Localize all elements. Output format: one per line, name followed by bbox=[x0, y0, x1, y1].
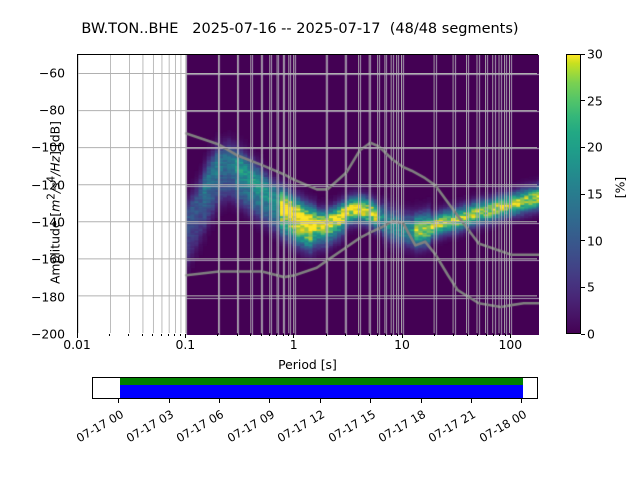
x-axis-tick-label: 10 bbox=[394, 337, 410, 352]
coverage-green-bar bbox=[120, 378, 523, 385]
time-axis-tick-label: 07-17 00 bbox=[70, 407, 125, 447]
colorbar-tick-label: 10 bbox=[587, 233, 603, 248]
colorbar-tick-label: 25 bbox=[587, 93, 603, 108]
time-axis-tick-label: 07-17 18 bbox=[373, 407, 428, 447]
time-coverage-box[interactable] bbox=[92, 377, 538, 399]
time-coverage-fill bbox=[120, 378, 523, 398]
plot-gridlines bbox=[78, 55, 537, 333]
x-axis-labels: 0.010.1110100 bbox=[77, 337, 538, 357]
time-axis-tick-label: 07-17 12 bbox=[272, 407, 327, 447]
colorbar-title: [%] bbox=[613, 168, 628, 208]
x-axis-tick-label: 1 bbox=[290, 337, 298, 352]
time-axis-tick-label: 07-17 09 bbox=[221, 407, 276, 447]
page-title: BW.TON..BHE 2025-07-16 -- 2025-07-17 (48… bbox=[0, 21, 600, 37]
colorbar-tick bbox=[581, 240, 585, 241]
y-axis-title-text: Amplitude [m2/s4/Hz] [dB] bbox=[48, 121, 63, 284]
time-axis-labels: 07-17 0007-17 0307-17 0607-17 0907-17 12… bbox=[92, 403, 538, 463]
time-axis-tick-label: 07-17 03 bbox=[121, 407, 176, 447]
time-axis-tick-label: 07-17 21 bbox=[423, 407, 478, 447]
colorbar-tick-label: 15 bbox=[587, 187, 603, 202]
ppsd-plot-area[interactable] bbox=[77, 54, 538, 334]
x-axis-tick-label: 0.1 bbox=[175, 337, 195, 352]
coverage-blue-bar bbox=[120, 385, 523, 398]
colorbar-tick bbox=[581, 334, 585, 335]
x-axis-tick-label: 0.01 bbox=[63, 337, 91, 352]
time-axis-tick-label: 07-17 15 bbox=[322, 407, 377, 447]
colorbar-tick bbox=[581, 147, 585, 148]
time-axis-tick-label: 07-18 00 bbox=[473, 407, 528, 447]
colorbar-tick bbox=[581, 194, 585, 195]
colorbar-tick bbox=[581, 54, 585, 55]
x-axis-title: Period [s] bbox=[77, 357, 538, 372]
colorbar-tick-label: 0 bbox=[587, 327, 595, 342]
colorbar-tick-label: 20 bbox=[587, 140, 603, 155]
colorbar-tick-label: 5 bbox=[587, 280, 595, 295]
colorbar-tick bbox=[581, 287, 585, 288]
colorbar-tick bbox=[581, 100, 585, 101]
colorbar-gradient bbox=[566, 54, 581, 334]
y-axis-title: Amplitude [m2/s4/Hz] [dB] bbox=[45, 63, 62, 343]
colorbar-tick-label: 30 bbox=[587, 47, 603, 62]
colorbar-ticks bbox=[581, 54, 586, 334]
time-axis-tick-label: 07-17 06 bbox=[171, 407, 226, 447]
x-axis-tick-label: 100 bbox=[499, 337, 523, 352]
